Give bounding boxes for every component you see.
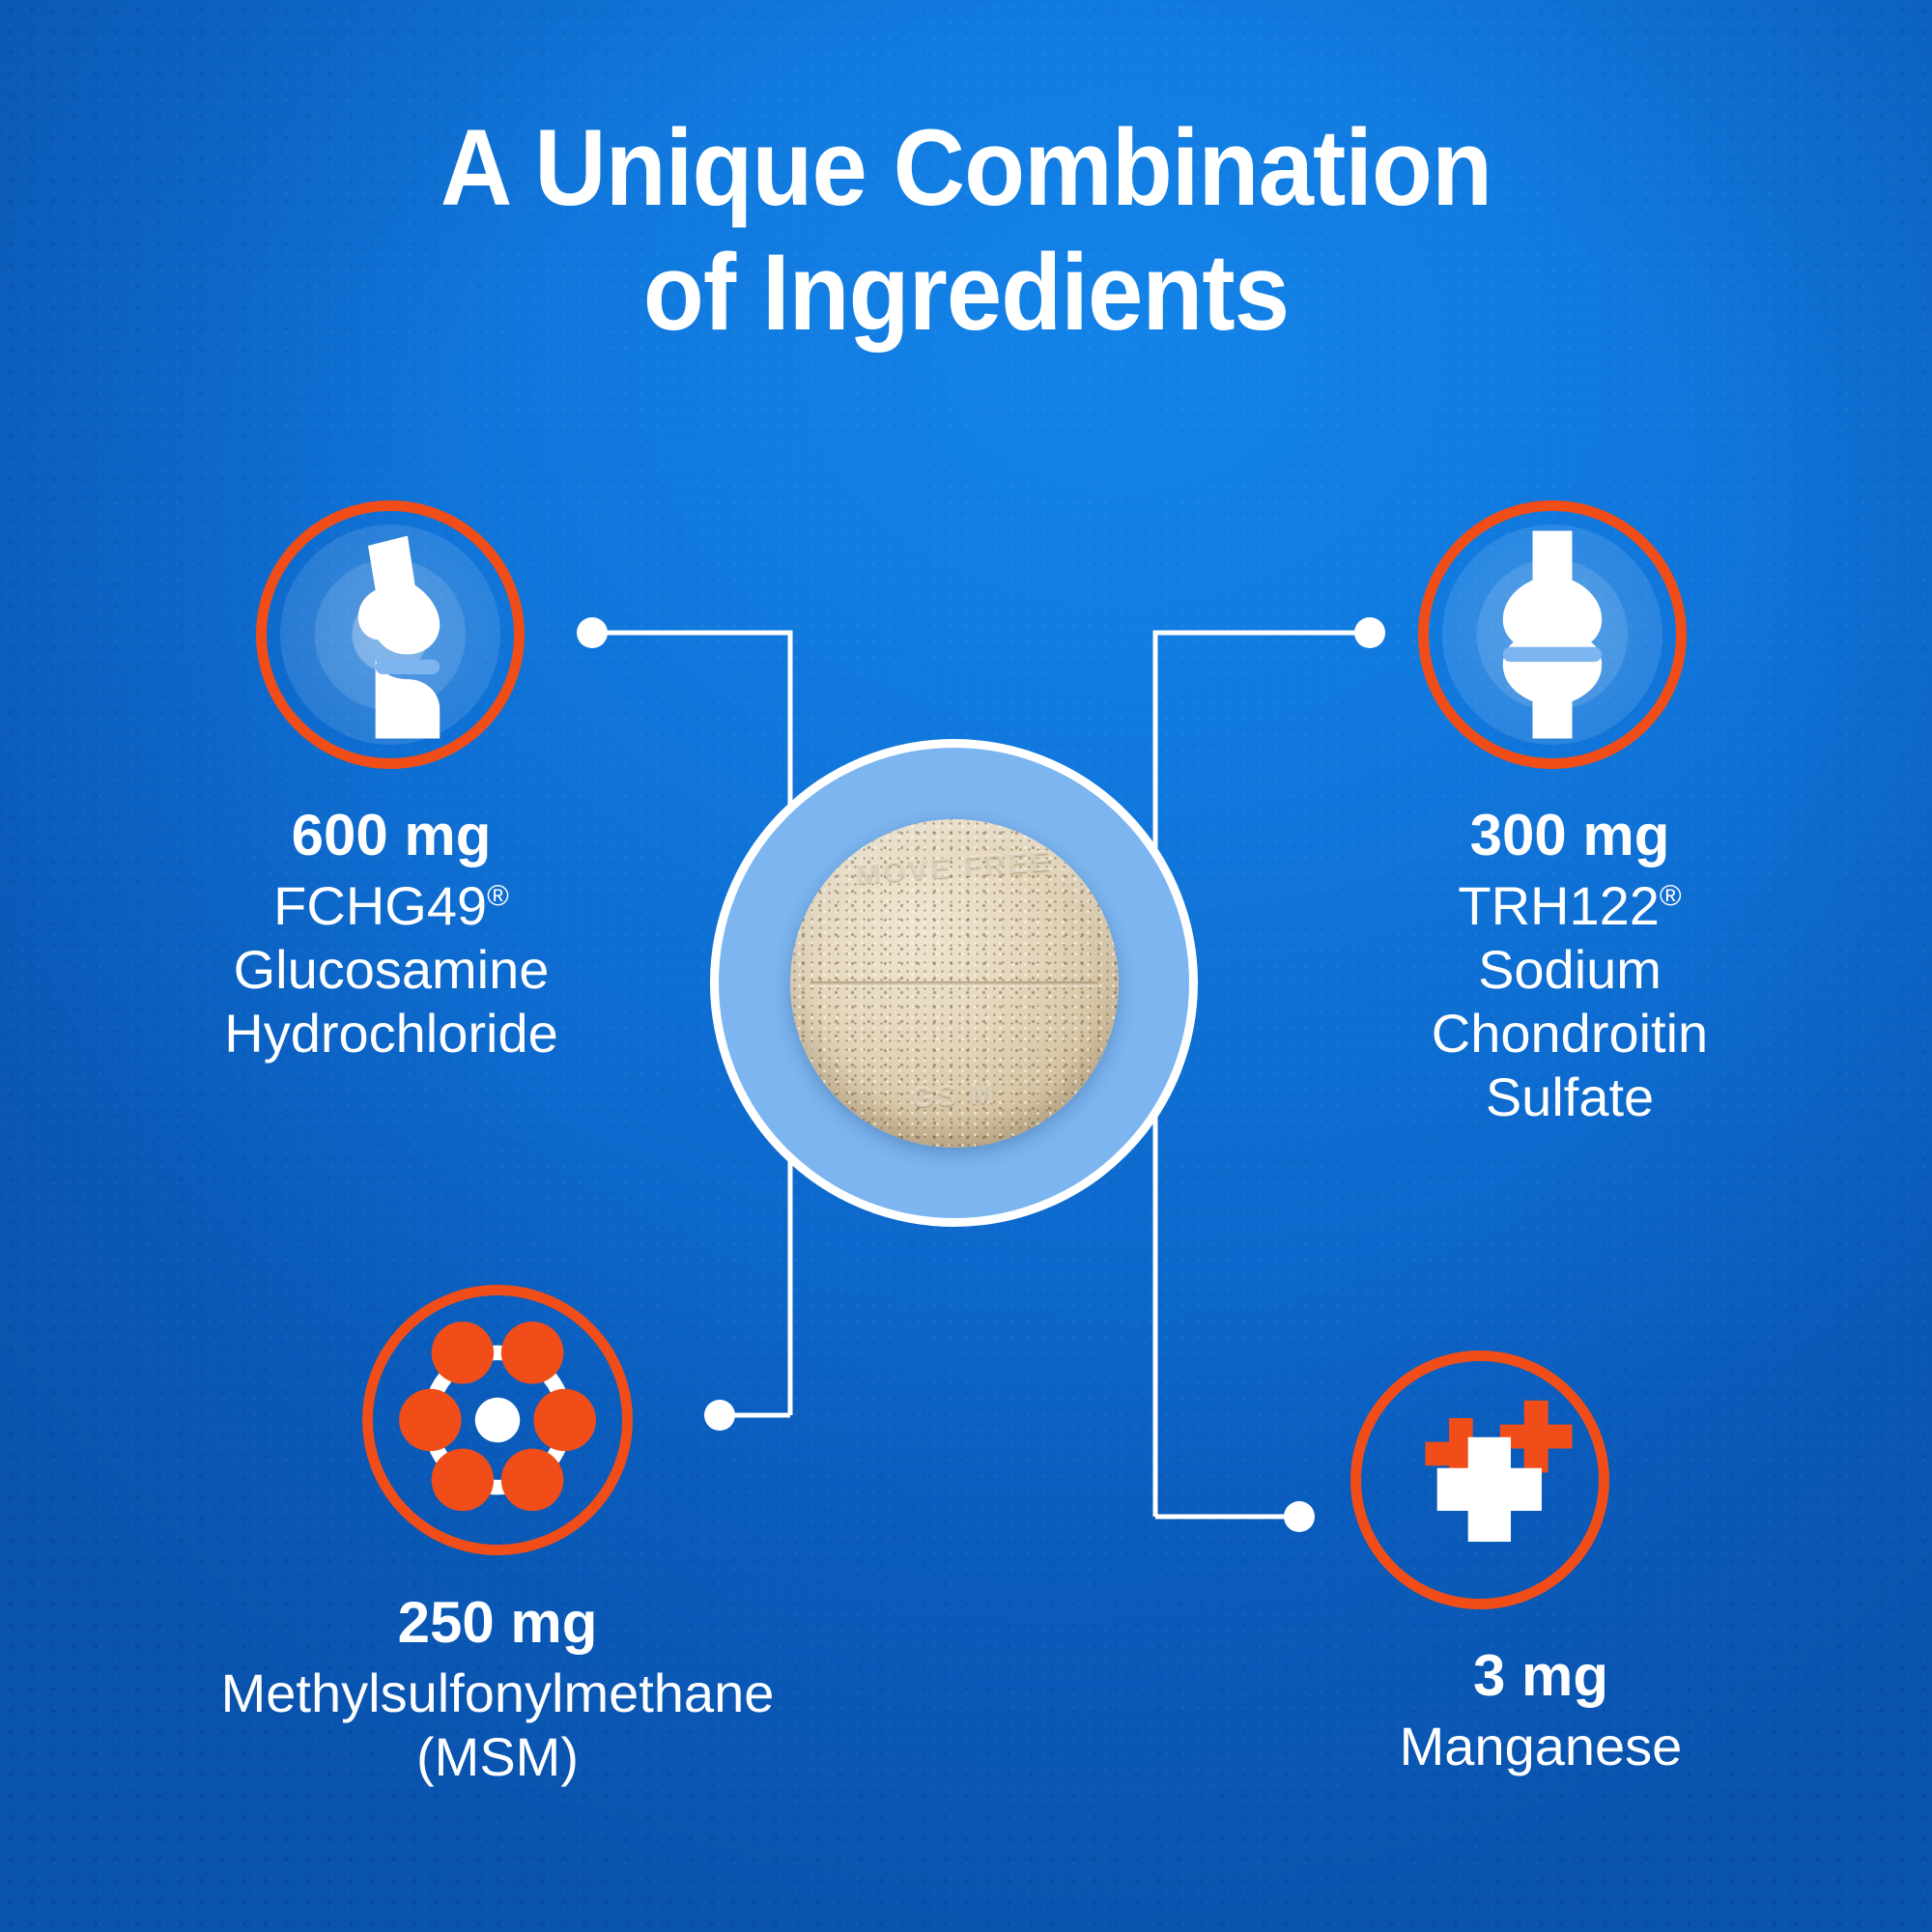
desc-glucosamine-line-3: Hydrochloride (58, 1002, 724, 1065)
icon-glucosamine-knee-joint[interactable] (256, 500, 525, 769)
connector-dot-chondroitin (1354, 617, 1385, 648)
dose-msm: 250 mg (48, 1589, 947, 1658)
page-title-line-1: A Unique Combination (77, 106, 1855, 231)
dose-chondroitin: 300 mg (1251, 802, 1889, 870)
icon-manganese-plus[interactable] (1350, 1350, 1609, 1609)
desc-chondroitin-line-4: Sulfate (1251, 1065, 1889, 1129)
desc-msm-line-2: (MSM) (48, 1725, 947, 1789)
desc-chondroitin-line-1: TRH122® (1251, 874, 1889, 938)
label-manganese: 3 mg Manganese (1203, 1642, 1879, 1778)
desc-glucosamine-line-1: FCHG49® (58, 874, 724, 938)
label-msm: 250 mg Methylsulfonylmethane (MSM) (48, 1589, 947, 1789)
plus-cross-icon (1361, 1361, 1599, 1599)
desc-chondroitin-line-2: Sodium (1251, 938, 1889, 1002)
page-title-line-2: of Ingredients (77, 231, 1855, 355)
label-glucosamine: 600 mg FCHG49® Glucosamine Hydrochloride (58, 802, 724, 1065)
tablet-emboss-bottom: GS M (910, 1077, 997, 1115)
infographic-canvas: A Unique Combination of Ingredients MOVE… (0, 0, 1932, 1932)
product-tablet-image: MOVE FREE GS M (790, 819, 1119, 1148)
desc-glucosamine-line-2: Glucosamine (58, 938, 724, 1002)
product-tablet-bubble: MOVE FREE GS M (710, 739, 1198, 1227)
connector-dot-manganese (1284, 1501, 1315, 1532)
icon-chondroitin-knee-joint[interactable] (1418, 500, 1687, 769)
connector-dot-msm (704, 1400, 735, 1431)
knee-joint-icon (1429, 511, 1676, 758)
icon-msm-molecule[interactable] (362, 1285, 633, 1555)
dose-glucosamine: 600 mg (58, 802, 724, 870)
page-title: A Unique Combination of Ingredients (77, 106, 1855, 355)
tablet-score-line (810, 981, 1098, 986)
desc-msm-line-1: Methylsulfonylmethane (48, 1662, 947, 1725)
connector-dot-glucosamine (577, 617, 608, 648)
label-chondroitin: 300 mg TRH122® Sodium Chondroitin Sulfat… (1251, 802, 1889, 1129)
desc-chondroitin-line-3: Chondroitin (1251, 1002, 1889, 1065)
dose-manganese: 3 mg (1203, 1642, 1879, 1711)
knee-joint-icon (267, 511, 514, 758)
molecule-icon (373, 1295, 622, 1545)
desc-manganese-line-1: Manganese (1203, 1715, 1879, 1778)
